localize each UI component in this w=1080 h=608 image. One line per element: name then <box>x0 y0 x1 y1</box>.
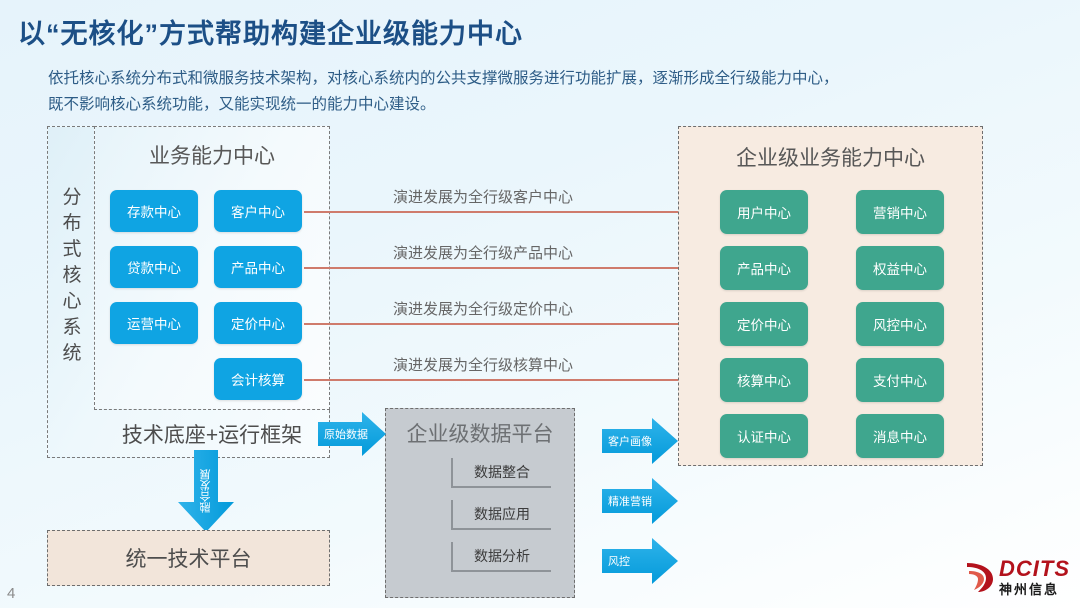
enterprise-box-zhifu[interactable]: 支付中心 <box>856 358 944 402</box>
capability-box-daikuan[interactable]: 贷款中心 <box>110 246 198 288</box>
enterprise-box-chanpin[interactable]: 产品中心 <box>720 246 808 290</box>
data-platform-title: 企业级数据平台 <box>385 418 575 448</box>
unified-tech-platform-label: 统一技术平台 <box>126 543 252 573</box>
dcits-logo-cn: 神州信息 <box>999 583 1070 596</box>
arrow-integrated-development-label: 融合发展 <box>178 450 234 532</box>
unified-tech-platform[interactable]: 统一技术平台 <box>47 530 330 586</box>
core-label-char-2: 式 <box>52 237 92 263</box>
core-label-char-3: 核 <box>52 263 92 289</box>
core-label-char-5: 系 <box>52 315 92 341</box>
connector-label-1: 演进发展为全行级客户中心 <box>393 186 573 207</box>
distributed-core-system-label: 分 布 式 核 心 系 统 <box>52 185 92 367</box>
slide-root: 以“无核化”方式帮助构建企业级能力中心 依托核心系统分布式和微服务技术架构，对核… <box>0 0 1080 608</box>
business-capability-center-title: 业务能力中心 <box>94 140 330 170</box>
core-label-char-4: 心 <box>52 289 92 315</box>
enterprise-box-yingxiao[interactable]: 营销中心 <box>856 190 944 234</box>
connector-label-4: 演进发展为全行级核算中心 <box>393 354 573 375</box>
capability-box-kuaijihesuan[interactable]: 会计核算 <box>214 358 302 400</box>
enterprise-box-hesuan[interactable]: 核算中心 <box>720 358 808 402</box>
capability-box-cunkuan[interactable]: 存款中心 <box>110 190 198 232</box>
data-platform-item-application[interactable]: 数据应用 <box>451 500 551 530</box>
page-title: 以“无核化”方式帮助构建企业级能力中心 <box>18 12 523 51</box>
subtitle-line-1: 依托核心系统分布式和微服务技术架构，对核心系统内的公共支撑微服务进行功能扩展，逐… <box>48 66 988 92</box>
arrow-risk-control: 风控 <box>602 538 678 584</box>
connector-label-2: 演进发展为全行级产品中心 <box>393 242 573 263</box>
enterprise-box-dingjia[interactable]: 定价中心 <box>720 302 808 346</box>
page-number: 4 <box>7 585 15 602</box>
enterprise-box-quanyi[interactable]: 权益中心 <box>856 246 944 290</box>
connector-line-3 <box>304 323 717 325</box>
core-label-char-6: 统 <box>52 341 92 367</box>
enterprise-box-fengkong[interactable]: 风控中心 <box>856 302 944 346</box>
arrow-integrated-development: 融合发展 <box>178 450 234 532</box>
connector-line-4 <box>304 379 717 381</box>
connector-line-2 <box>304 267 717 269</box>
arrow-precision-marketing-label: 精准营销 <box>602 478 678 524</box>
page-subtitle: 依托核心系统分布式和微服务技术架构，对核心系统内的公共支撑微服务进行功能扩展，逐… <box>48 66 988 118</box>
connector-line-1 <box>304 211 717 213</box>
data-platform-item-integration[interactable]: 数据整合 <box>451 458 551 488</box>
connector-label-3: 演进发展为全行级定价中心 <box>393 298 573 319</box>
enterprise-box-yonghu[interactable]: 用户中心 <box>720 190 808 234</box>
capability-box-yunying[interactable]: 运营中心 <box>110 302 198 344</box>
capability-box-chanpin[interactable]: 产品中心 <box>214 246 302 288</box>
arrow-risk-control-label: 风控 <box>602 538 678 584</box>
capability-box-kehu[interactable]: 客户中心 <box>214 190 302 232</box>
data-platform-item-analysis[interactable]: 数据分析 <box>451 542 551 572</box>
enterprise-box-renzheng[interactable]: 认证中心 <box>720 414 808 458</box>
core-label-char-1: 布 <box>52 211 92 237</box>
dcits-logo-text: DCITS 神州信息 <box>999 558 1070 596</box>
enterprise-box-xiaoxi[interactable]: 消息中心 <box>856 414 944 458</box>
core-label-char-0: 分 <box>52 185 92 211</box>
arrow-precision-marketing: 精准营销 <box>602 478 678 524</box>
arrow-raw-data-label: 原始数据 <box>318 412 386 456</box>
dcits-mark-icon <box>965 560 995 594</box>
subtitle-line-2: 既不影响核心系统功能，又能实现统一的能力中心建设。 <box>48 92 988 118</box>
dcits-logo: DCITS 神州信息 <box>965 558 1070 596</box>
arrow-customer-profile-label: 客户画像 <box>602 418 678 464</box>
capability-box-dingjia[interactable]: 定价中心 <box>214 302 302 344</box>
dcits-logo-en: DCITS <box>999 558 1070 580</box>
enterprise-capability-center-title: 企业级业务能力中心 <box>678 142 983 172</box>
arrow-customer-profile: 客户画像 <box>602 418 678 464</box>
arrow-raw-data: 原始数据 <box>318 412 386 456</box>
